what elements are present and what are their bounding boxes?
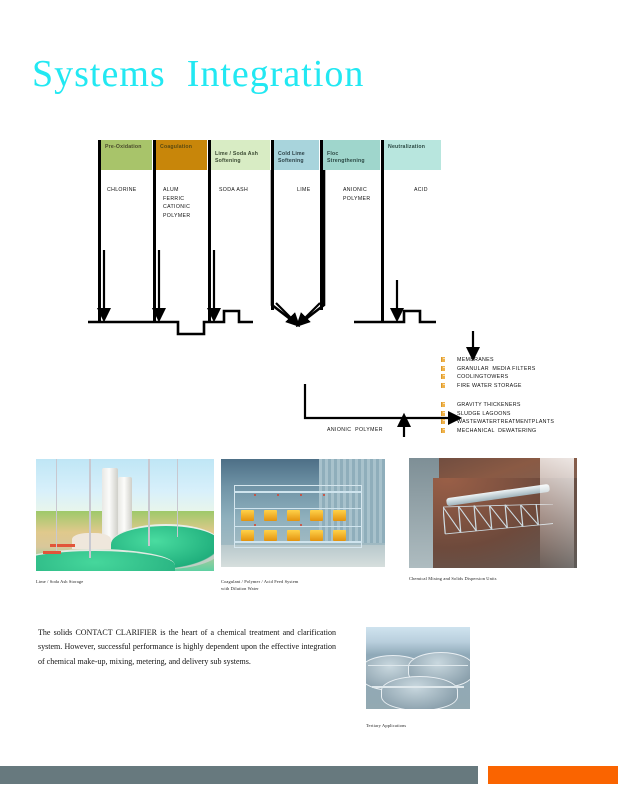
photo-tertiary-applications (366, 627, 470, 709)
photo-caption: Tertiary Applications (366, 722, 466, 729)
list-item-label: MEMBRANES (457, 356, 494, 365)
bullet-icon (441, 428, 445, 433)
photo-catwalk (372, 686, 464, 688)
list-item-label: COOLINGTOWERS (457, 373, 508, 382)
photo-pump (287, 530, 300, 541)
bullet-icon (441, 366, 445, 371)
photo-valve (254, 524, 256, 526)
photo-pole (177, 459, 179, 537)
body-paragraph: The solids CONTACT CLARIFIER is the hear… (38, 626, 336, 669)
photo-coagulant-feed-system (221, 459, 385, 567)
photo-valve (300, 524, 302, 526)
photo-content (36, 459, 214, 571)
photo-pole (148, 459, 150, 546)
list-item-label: GRAVITY THICKENERS (457, 401, 521, 410)
photo-pole (89, 459, 91, 558)
bullet-icon (441, 383, 445, 388)
footer-bar (0, 766, 478, 784)
photo-truss (443, 504, 554, 541)
photo-pump (333, 510, 346, 521)
list-item-label: SLUDGE LAGOONS (457, 410, 511, 419)
photo-tank (381, 676, 458, 709)
photo-pipe (234, 541, 362, 543)
photo-pump (310, 510, 323, 521)
photo-valve (277, 494, 279, 496)
photo-pump (241, 510, 254, 521)
bullet-icon (441, 411, 445, 416)
photo-lime-soda-ash-storage (36, 459, 214, 571)
photo-pump (241, 530, 254, 541)
list-item-label: MECHANICAL DEWATERING (457, 427, 536, 436)
photo-equipment (50, 544, 75, 547)
list-item-label: FIRE WATER STORAGE (457, 382, 522, 391)
photo-valve (300, 494, 302, 496)
photo-pipe (234, 491, 362, 493)
list-item-label: WASTEWATERTREATMENTPLANTS (457, 418, 554, 427)
bullet-icon (441, 419, 445, 424)
photo-caption: Lime / Soda Ash Storage (36, 578, 186, 585)
photo-floor (221, 545, 385, 567)
photo-pipe (234, 508, 362, 510)
bullet-icon (441, 402, 445, 407)
photo-equipment (43, 551, 61, 554)
photo-caption: Coagulant / Polymer / Acid Feed System w… (221, 578, 361, 592)
process-flow-diagram (0, 0, 618, 450)
photo-pole (56, 459, 58, 551)
photo-pump (333, 530, 346, 541)
list-item-label: GRANULAR MEDIA FILTERS (457, 365, 536, 374)
photo-caption: Chemical Mixing and Solids Dispersion Un… (409, 575, 569, 582)
photo-pump (264, 510, 277, 521)
photo-pump (287, 510, 300, 521)
photo-valve (254, 494, 256, 496)
photo-chemical-mixing-units (409, 458, 577, 568)
photo-content (221, 459, 385, 567)
photo-valve (323, 494, 325, 496)
bullet-icon (441, 374, 445, 379)
photo-silo (102, 468, 118, 542)
photo-catwalk (368, 665, 468, 667)
photo-building (72, 533, 111, 549)
footer-accent-block (488, 766, 618, 784)
photo-content (366, 627, 470, 709)
bullet-icon (441, 357, 445, 362)
photo-highlight (540, 458, 574, 568)
photo-pump (310, 530, 323, 541)
diagram-label-anionic-polymer: ANIONIC POLYMER (327, 427, 383, 433)
photo-pipe (234, 526, 362, 528)
photo-pump (264, 530, 277, 541)
photo-content (409, 458, 577, 568)
